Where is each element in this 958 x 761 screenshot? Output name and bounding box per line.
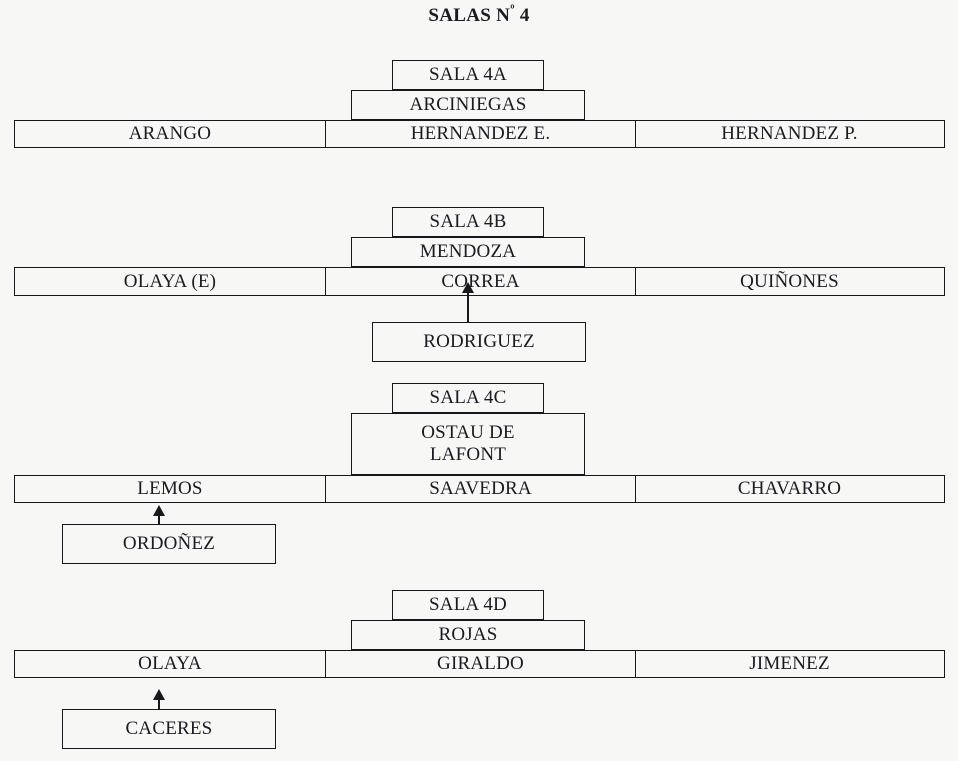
- magistrate-cell: JIMENEZ: [636, 651, 943, 677]
- magistrates-row-sala-4a: ARANGO HERNANDEZ E. HERNANDEZ P.: [14, 120, 945, 148]
- magistrate-cell: OLAYA: [15, 651, 326, 677]
- president-mendoza: MENDOZA: [351, 237, 585, 267]
- magistrates-row-sala-4d: OLAYA GIRALDO JIMENEZ: [14, 650, 945, 678]
- president-arciniegas: ARCINIEGAS: [351, 90, 585, 120]
- president-line-2: LAFONT: [430, 444, 506, 466]
- organigram-canvas: SALAS Nº 4 SALA 4A ARCINIEGAS ARANGO HER…: [0, 0, 958, 761]
- magistrate-cell: HERNANDEZ P.: [636, 121, 943, 147]
- magistrate-cell: SAAVEDRA: [326, 476, 636, 502]
- magistrates-row-sala-4c: LEMOS SAAVEDRA CHAVARRO: [14, 475, 945, 503]
- auxiliary-caceres: CACERES: [62, 709, 276, 749]
- room-label-sala-4a: SALA 4A: [392, 60, 544, 90]
- magistrate-cell: CORREA: [326, 268, 636, 295]
- magistrate-cell: QUIÑONES: [636, 268, 943, 295]
- magistrate-cell: CHAVARRO: [636, 476, 943, 502]
- magistrate-cell: OLAYA (E): [15, 268, 326, 295]
- arrow-rodriguez-to-correa: [460, 282, 476, 322]
- auxiliary-rodriguez: RODRIGUEZ: [372, 322, 586, 362]
- auxiliary-ordonez: ORDOÑEZ: [62, 524, 276, 564]
- arrow-shaft: [467, 289, 469, 322]
- room-label-sala-4d: SALA 4D: [392, 590, 544, 620]
- magistrate-cell: LEMOS: [15, 476, 326, 502]
- room-label-sala-4c: SALA 4C: [392, 383, 544, 413]
- arrow-shaft: [158, 512, 160, 524]
- page-title: SALAS Nº 4: [0, 5, 958, 27]
- president-rojas: ROJAS: [351, 620, 585, 650]
- arrow-ordonez-to-lemos: [151, 505, 167, 524]
- president-line-1: OSTAU DE: [421, 422, 515, 444]
- page-title-text: SALAS N: [428, 5, 510, 26]
- arrow-caceres-to-olaya: [151, 689, 167, 709]
- magistrate-cell: ARANGO: [15, 121, 326, 147]
- arrow-shaft: [158, 696, 160, 709]
- magistrate-cell: GIRALDO: [326, 651, 636, 677]
- magistrate-cell: HERNANDEZ E.: [326, 121, 636, 147]
- room-label-sala-4b: SALA 4B: [392, 207, 544, 237]
- president-ostau-de-lafont: OSTAU DE LAFONT: [351, 413, 585, 475]
- page-title-number: 4: [515, 5, 530, 26]
- magistrates-row-sala-4b: OLAYA (E) CORREA QUIÑONES: [14, 267, 945, 296]
